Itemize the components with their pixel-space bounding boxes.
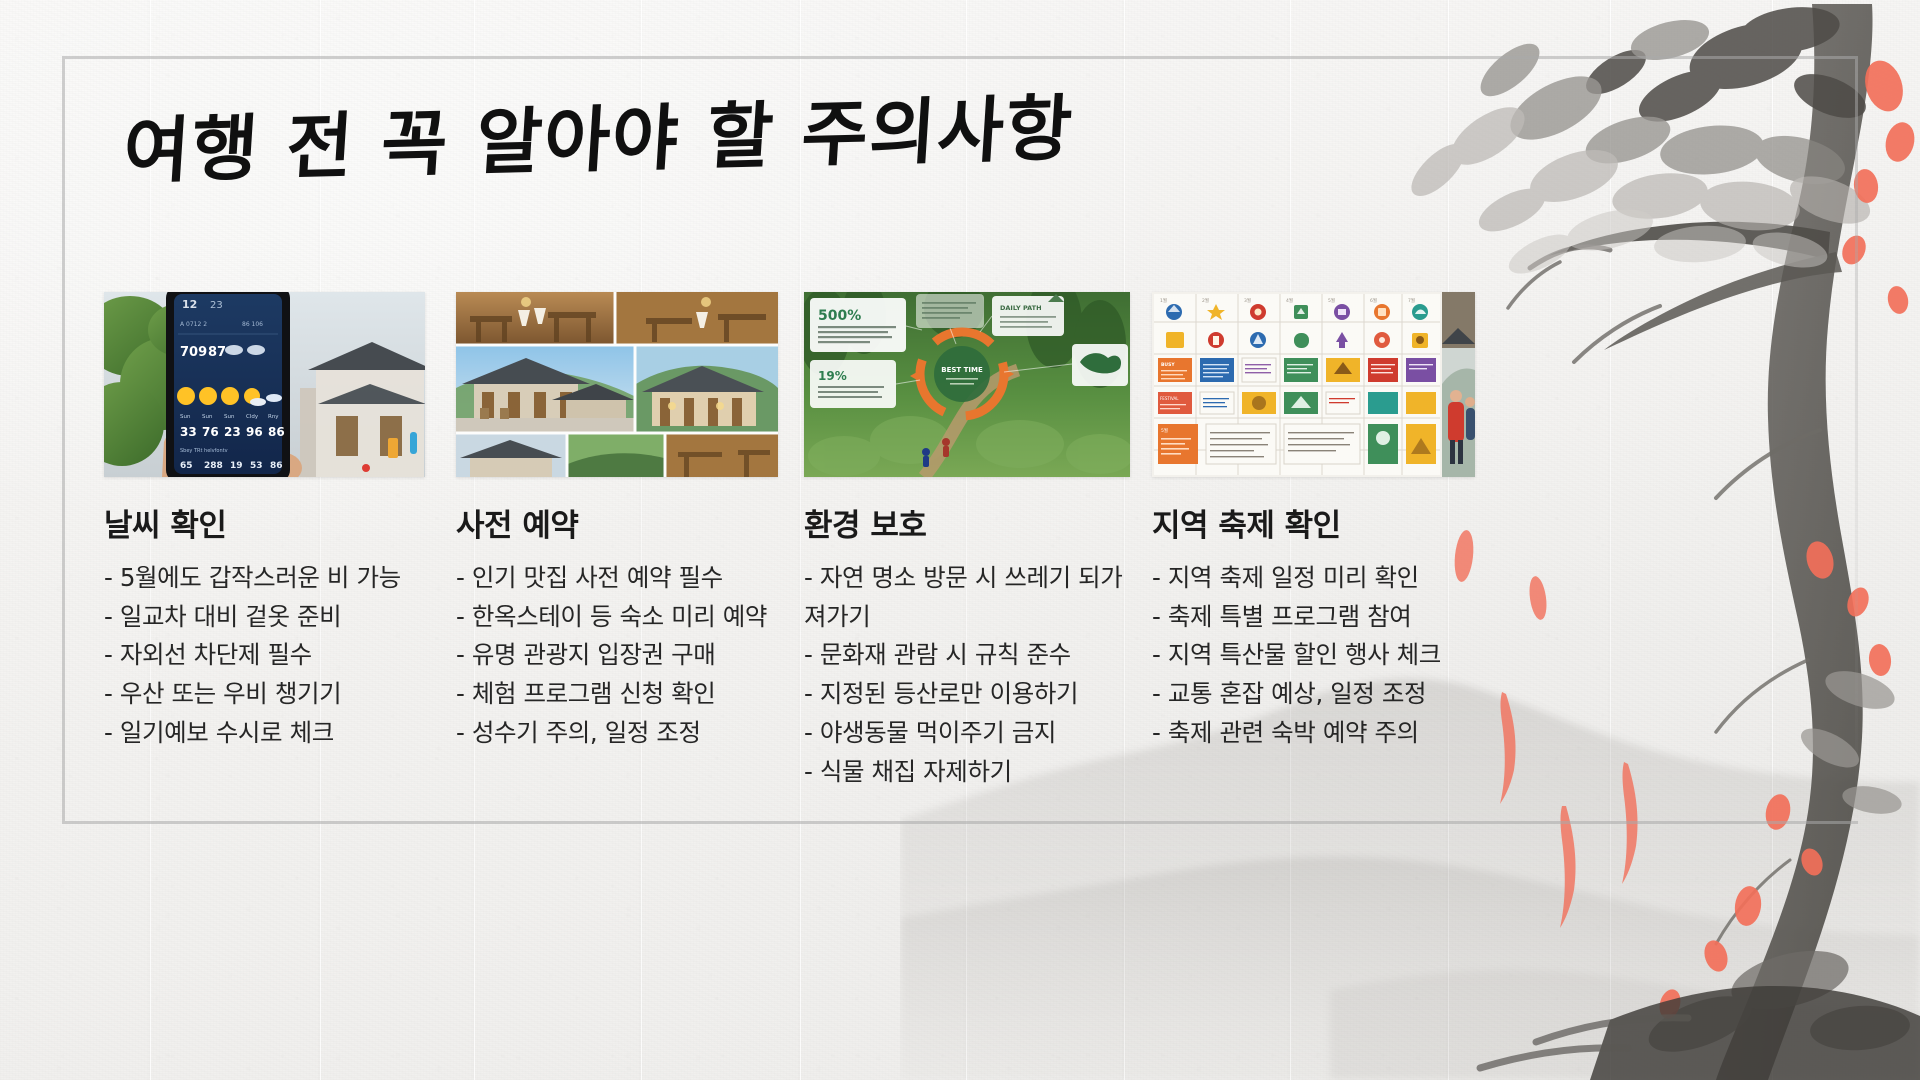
svg-text:Sun: Sun	[224, 414, 235, 420]
bullet-list: - 5월에도 갑작스러운 비 가능 - 일교차 대비 겉옷 준비 - 자외선 차…	[104, 559, 428, 753]
svg-text:2월: 2월	[1202, 297, 1209, 304]
column-heading: 환경 보호	[804, 500, 1134, 545]
weather-bottom-4: 53	[250, 461, 263, 471]
svg-text:3월: 3월	[1244, 297, 1251, 304]
svg-text:A 0712 2: A 0712 2	[180, 321, 207, 328]
svg-text:BUSY: BUSY	[1161, 362, 1175, 368]
column-festival: 1월2월3월 4월5월6월 7월	[1152, 292, 1496, 852]
svg-text:4월: 4월	[1286, 297, 1293, 304]
list-item: - 유명 관광지 입장권 구매	[456, 636, 788, 675]
svg-text:86 106: 86 106	[242, 321, 263, 328]
column-heading: 지역 축제 확인	[1152, 500, 1488, 545]
svg-text:Sbey TRt helvfontv: Sbey TRt helvfontv	[180, 448, 228, 454]
list-item: - 인기 맛집 사전 예약 필수	[456, 559, 788, 598]
weather-value-1: 709	[180, 345, 207, 360]
list-item: - 야생동물 먹이주기 금지	[804, 714, 1134, 753]
weather-temp-5: 86	[268, 425, 285, 439]
list-item: - 체험 프로그램 신청 확인	[456, 675, 788, 714]
thumbnail-festival-calendar[interactable]: 1월2월3월 4월5월6월 7월	[1152, 292, 1475, 477]
svg-text:FESTIVAL: FESTIVAL	[1160, 396, 1179, 401]
list-item: - 자외선 차단제 필수	[104, 636, 428, 675]
list-item: - 지역 특산물 할인 행사 체크	[1152, 636, 1488, 675]
page-title: 여행 전 꼭 알아야 할 주의사항	[128, 108, 1228, 200]
column-reservation: 사전 예약 - 인기 맛집 사전 예약 필수 - 한옥스테이 등 숙소 미리 예…	[456, 292, 800, 852]
list-item: - 축제 관련 숙박 예약 주의	[1152, 714, 1488, 753]
weather-temp-2: 76	[202, 425, 219, 439]
list-item: - 교통 혼잡 예상, 일정 조정	[1152, 675, 1488, 714]
list-item: - 지역 축제 일정 미리 확인	[1152, 559, 1488, 598]
svg-text:7월: 7월	[1408, 297, 1415, 304]
thumbnail-weather-app[interactable]: 12 23 A 0712 2 86 106 709 87	[104, 292, 425, 477]
bullet-list: - 인기 맛집 사전 예약 필수 - 한옥스테이 등 숙소 미리 예약 - 유명…	[456, 559, 788, 753]
svg-text:Rny: Rny	[268, 414, 279, 420]
list-item: - 일기예보 수시로 체크	[104, 714, 428, 753]
thumbnail-hanok-collage[interactable]	[456, 292, 778, 477]
list-item: - 문화재 관람 시 규칙 준수	[804, 636, 1134, 675]
weather-temp-1: 33	[180, 425, 197, 439]
svg-text:Sun: Sun	[180, 414, 191, 420]
slide-canvas: 여행 전 꼭 알아야 할 주의사항	[0, 0, 1920, 1080]
list-item: - 식물 채집 자제하기	[804, 753, 1134, 792]
svg-text:5월: 5월	[1328, 297, 1335, 304]
svg-text:Sun: Sun	[202, 414, 213, 420]
column-heading: 날씨 확인	[104, 500, 428, 545]
bullet-list: - 지역 축제 일정 미리 확인 - 축제 특별 프로그램 참여 - 지역 특산…	[1152, 559, 1488, 753]
svg-text:Cldy: Cldy	[246, 414, 259, 420]
weather-temp-3: 23	[224, 425, 241, 439]
thumbnail-eco-infographic[interactable]: 500% 19%	[804, 292, 1130, 477]
list-item: - 자연 명소 방문 시 쓰레기 되가져가기	[804, 559, 1134, 636]
eco-center-label: BEST TIME	[941, 366, 983, 374]
list-item: - 일교차 대비 겉옷 준비	[104, 598, 428, 637]
weather-value-2: 87	[208, 345, 226, 360]
list-item: - 지정된 등산로만 이용하기	[804, 675, 1134, 714]
column-heading: 사전 예약	[456, 500, 788, 545]
eco-side-label: DAILY PATH	[1000, 304, 1042, 312]
weather-bottom-1: 65	[180, 461, 193, 471]
list-item: - 우산 또는 우비 챙기기	[104, 675, 428, 714]
svg-text:6월: 6월	[1370, 297, 1377, 304]
svg-text:1월: 1월	[1160, 297, 1167, 304]
weather-bottom-2: 288	[204, 461, 223, 471]
svg-text:5월: 5월	[1161, 427, 1168, 434]
column-weather: 12 23 A 0712 2 86 106 709 87	[104, 292, 448, 852]
bullet-list: - 자연 명소 방문 시 쓰레기 되가져가기 - 문화재 관람 시 규칙 준수 …	[804, 559, 1134, 791]
list-item: - 축제 특별 프로그램 참여	[1152, 598, 1488, 637]
list-item: - 성수기 주의, 일정 조정	[456, 714, 788, 753]
eco-stat-big: 500%	[818, 308, 861, 324]
list-item: - 한옥스테이 등 숙소 미리 예약	[456, 598, 788, 637]
content-columns: 12 23 A 0712 2 86 106 709 87	[104, 292, 1824, 852]
svg-text:12: 12	[182, 298, 197, 311]
svg-text:23: 23	[210, 300, 223, 311]
weather-bottom-3: 19	[230, 461, 243, 471]
weather-temp-4: 96	[246, 425, 263, 439]
column-environment: 500% 19%	[804, 292, 1148, 852]
list-item: - 5월에도 갑작스러운 비 가능	[104, 559, 428, 598]
weather-bottom-5: 86	[270, 461, 283, 471]
eco-stat-small: 19%	[818, 369, 847, 383]
